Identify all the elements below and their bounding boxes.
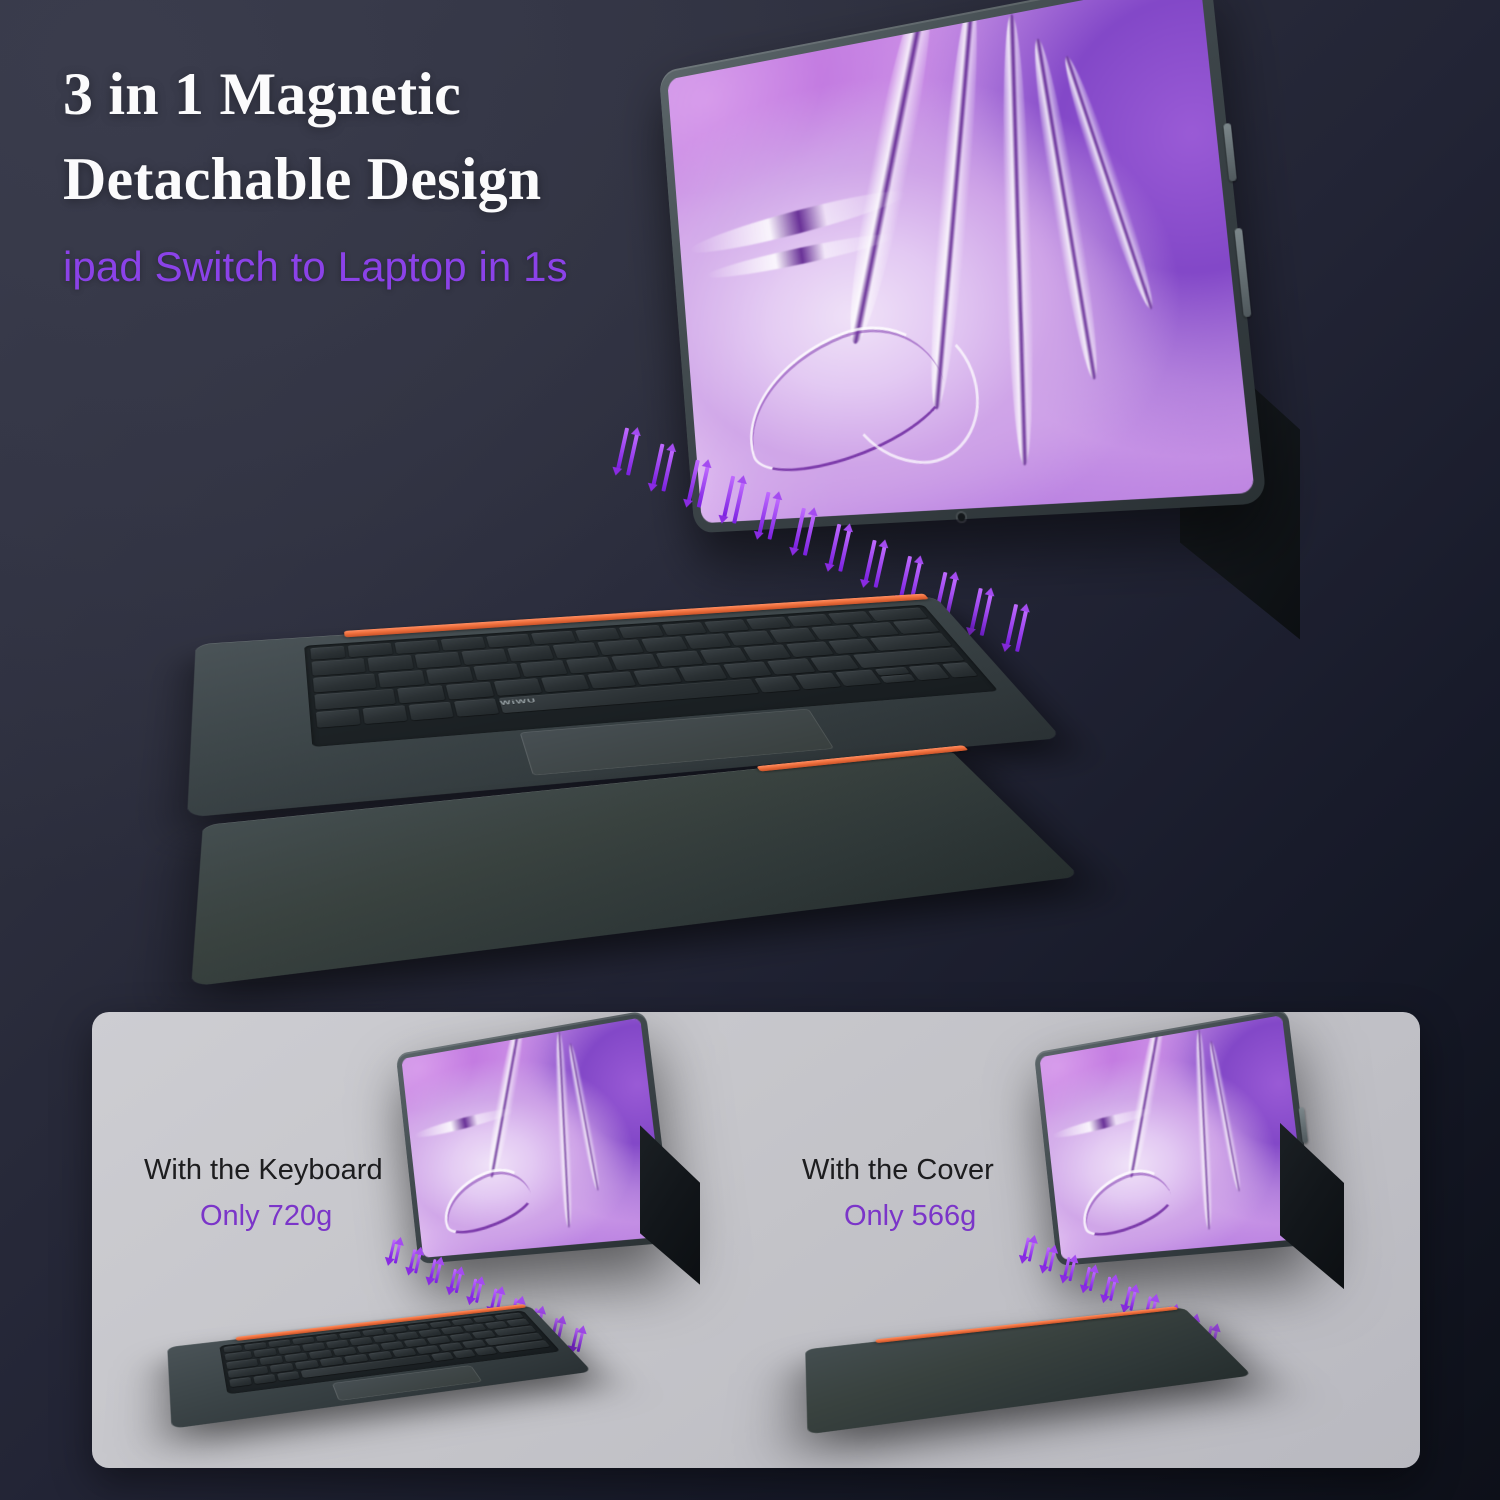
mini-kickstand-cover	[1280, 1123, 1344, 1289]
volume-button[interactable]	[1223, 123, 1237, 182]
headline-subtitle: ipad Switch to Laptop in 1s	[63, 244, 683, 290]
comparison-weight-cover: Only 566g	[844, 1200, 976, 1233]
wallpaper-fold	[1057, 52, 1161, 313]
wallpaper-fold	[1206, 1040, 1244, 1192]
comparison-item-cover: With the Cover Only 566g	[756, 1012, 1420, 1468]
wallpaper-fold	[1193, 1029, 1214, 1229]
mini-kickstand-keyboard	[640, 1125, 700, 1285]
mini-keyboard	[167, 1305, 592, 1428]
comparison-label-keyboard: With the Keyboard	[144, 1154, 383, 1187]
tablet-device	[659, 0, 1267, 533]
mini-tablet-keyboard	[396, 1012, 674, 1264]
wallpaper	[1039, 1015, 1309, 1260]
power-button[interactable]	[1234, 228, 1251, 317]
comparison-panel: With the Keyboard Only 720g	[92, 1012, 1420, 1468]
mini-back-cover-body	[805, 1307, 1252, 1434]
tablet-screen	[667, 0, 1255, 523]
promo-stage: 3 in 1 Magnetic Detachable Design ipad S…	[0, 0, 1500, 1500]
mini-back-cover	[805, 1307, 1252, 1434]
wallpaper-fold	[998, 13, 1037, 465]
wallpaper-fold	[1026, 36, 1106, 381]
headline-block: 3 in 1 Magnetic Detachable Design ipad S…	[63, 52, 683, 291]
wallpaper-fold	[553, 1031, 574, 1227]
wallpaper	[401, 1018, 666, 1258]
comparison-item-keyboard: With the Keyboard Only 720g	[92, 1012, 756, 1468]
mini-tablet-screen	[401, 1018, 666, 1258]
mini-tablet-cover	[1034, 1012, 1316, 1266]
comparison-weight-keyboard: Only 720g	[200, 1200, 332, 1233]
mini-tablet-screen	[1039, 1015, 1309, 1260]
power-button[interactable]	[1299, 1107, 1309, 1143]
wallpaper-fold	[565, 1042, 603, 1191]
comparison-label-cover: With the Cover	[802, 1154, 994, 1187]
headline-line-2: Detachable Design	[63, 137, 683, 222]
headline-line-1: 3 in 1 Magnetic	[63, 52, 683, 137]
